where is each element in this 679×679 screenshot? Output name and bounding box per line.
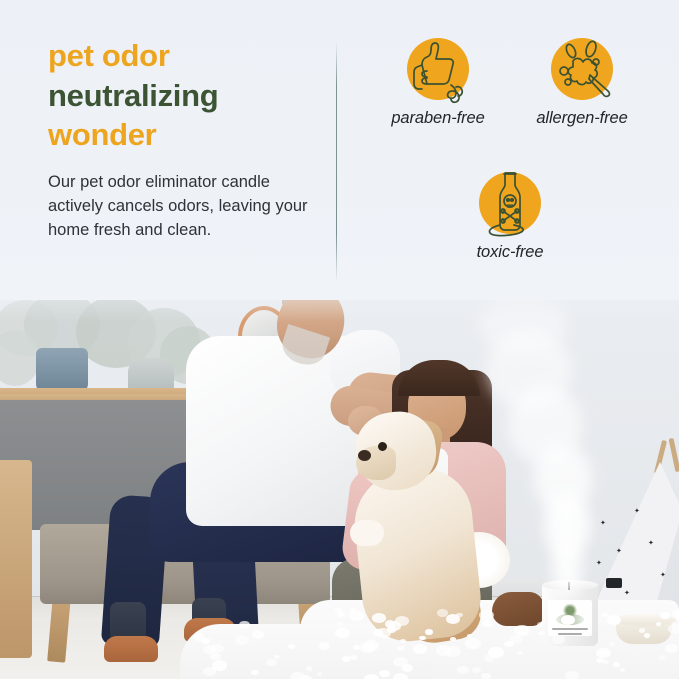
- badge-paraben-free: paraben-free: [368, 38, 508, 128]
- rug-fluff: [450, 637, 455, 641]
- allergen-pollen-icon: [542, 29, 622, 109]
- dog-paw: [350, 520, 384, 546]
- badge-label: paraben-free: [368, 109, 508, 128]
- rug-fluff: [288, 644, 295, 649]
- rug-fluff: [306, 666, 313, 671]
- rug-fluff: [290, 672, 306, 679]
- rug-fluff: [672, 609, 679, 617]
- rug-fluff: [517, 651, 523, 655]
- dog-body: [349, 464, 484, 645]
- rug-fluff: [504, 641, 514, 648]
- teepee-star: ✦: [648, 540, 654, 547]
- rug-fluff: [565, 671, 579, 679]
- badge-circle: [551, 38, 613, 100]
- rug-fluff: [537, 622, 544, 627]
- rug-fluff: [602, 613, 607, 617]
- page-title: pet odor neutralizing wonder: [48, 36, 318, 155]
- rug-fluff: [668, 624, 679, 634]
- thumbs-up-icon: [398, 29, 478, 109]
- rug-fluff: [337, 612, 345, 617]
- vertical-divider: [336, 42, 337, 282]
- rug-fluff: [379, 670, 390, 678]
- rug-fluff: [350, 655, 356, 659]
- rug-fluff: [342, 656, 350, 661]
- dog-eye: [378, 442, 387, 451]
- rug-fluff: [446, 614, 460, 624]
- rug-fluff: [659, 655, 665, 660]
- headline-line-2: neutralizing: [48, 76, 318, 116]
- rug-fluff: [239, 621, 249, 628]
- rug-fluff: [274, 655, 280, 659]
- badge-circle: [407, 38, 469, 100]
- headline-line-3: wonder: [48, 115, 318, 155]
- rug-fluff: [388, 621, 402, 631]
- rug-fluff: [465, 638, 481, 649]
- toxic-bottle-skull-icon: [470, 163, 550, 243]
- body-copy: Our pet odor eliminator candle actively …: [48, 170, 310, 242]
- teepee-star: ✦: [624, 590, 630, 597]
- badge-toxic-free: toxic-free: [440, 172, 580, 262]
- rug-fluff: [413, 644, 427, 654]
- teepee-star: ✦: [600, 520, 606, 527]
- rug-fluff: [639, 628, 645, 632]
- man-slipper: [104, 636, 158, 662]
- badge-label: allergen-free: [512, 109, 652, 128]
- rug-fluff: [252, 630, 264, 638]
- teepee-star: ✦: [660, 572, 666, 579]
- rug-fluff: [425, 629, 433, 634]
- armchair-arm: [0, 460, 32, 658]
- teepee-strap: [606, 578, 622, 588]
- rug-fluff: [644, 633, 650, 637]
- rug-fluff: [620, 668, 625, 672]
- rug-fluff: [538, 631, 545, 636]
- rug-fluff: [402, 664, 413, 671]
- headline-line-1: pet odor: [48, 36, 318, 76]
- rug-fluff: [397, 646, 405, 651]
- teepee-star: ✦: [596, 560, 602, 567]
- rug-fluff: [319, 642, 330, 649]
- rug-fluff: [445, 646, 461, 657]
- rug-fluff: [210, 653, 220, 660]
- info-panel: pet odor neutralizing wonder Our pet odo…: [0, 0, 679, 300]
- dog-nose: [358, 450, 371, 461]
- badge-allergen-free: allergen-free: [512, 38, 652, 128]
- teddy-bear-toy: [492, 592, 544, 626]
- blue-vase: [36, 348, 88, 392]
- rug-fluff: [212, 660, 227, 671]
- rug-fluff: [665, 644, 677, 653]
- rug-fluff: [335, 628, 350, 638]
- grey-ceramic-pot: [128, 358, 174, 392]
- rug-fluff: [337, 622, 343, 626]
- candle-label-text: [552, 628, 588, 630]
- rug-fluff: [364, 674, 378, 679]
- rug-fluff: [596, 648, 611, 658]
- badge-label: toxic-free: [440, 243, 580, 262]
- rug-fluff: [363, 640, 379, 651]
- teepee-star: ✦: [616, 548, 622, 555]
- teepee-star: ✦: [634, 508, 640, 515]
- rug-fluff: [603, 660, 609, 664]
- rug-fluff: [393, 673, 409, 679]
- rug-fluff: [400, 639, 406, 643]
- rug-fluff: [482, 620, 492, 627]
- rug-fluff: [488, 647, 504, 658]
- product-infographic: ✦ ✦ ✦ ✦ ✦ ✦ ✦ ✦ ✦: [0, 0, 679, 679]
- badge-circle: [479, 172, 541, 234]
- rug-fluff: [552, 635, 564, 644]
- rug-fluff: [481, 673, 491, 679]
